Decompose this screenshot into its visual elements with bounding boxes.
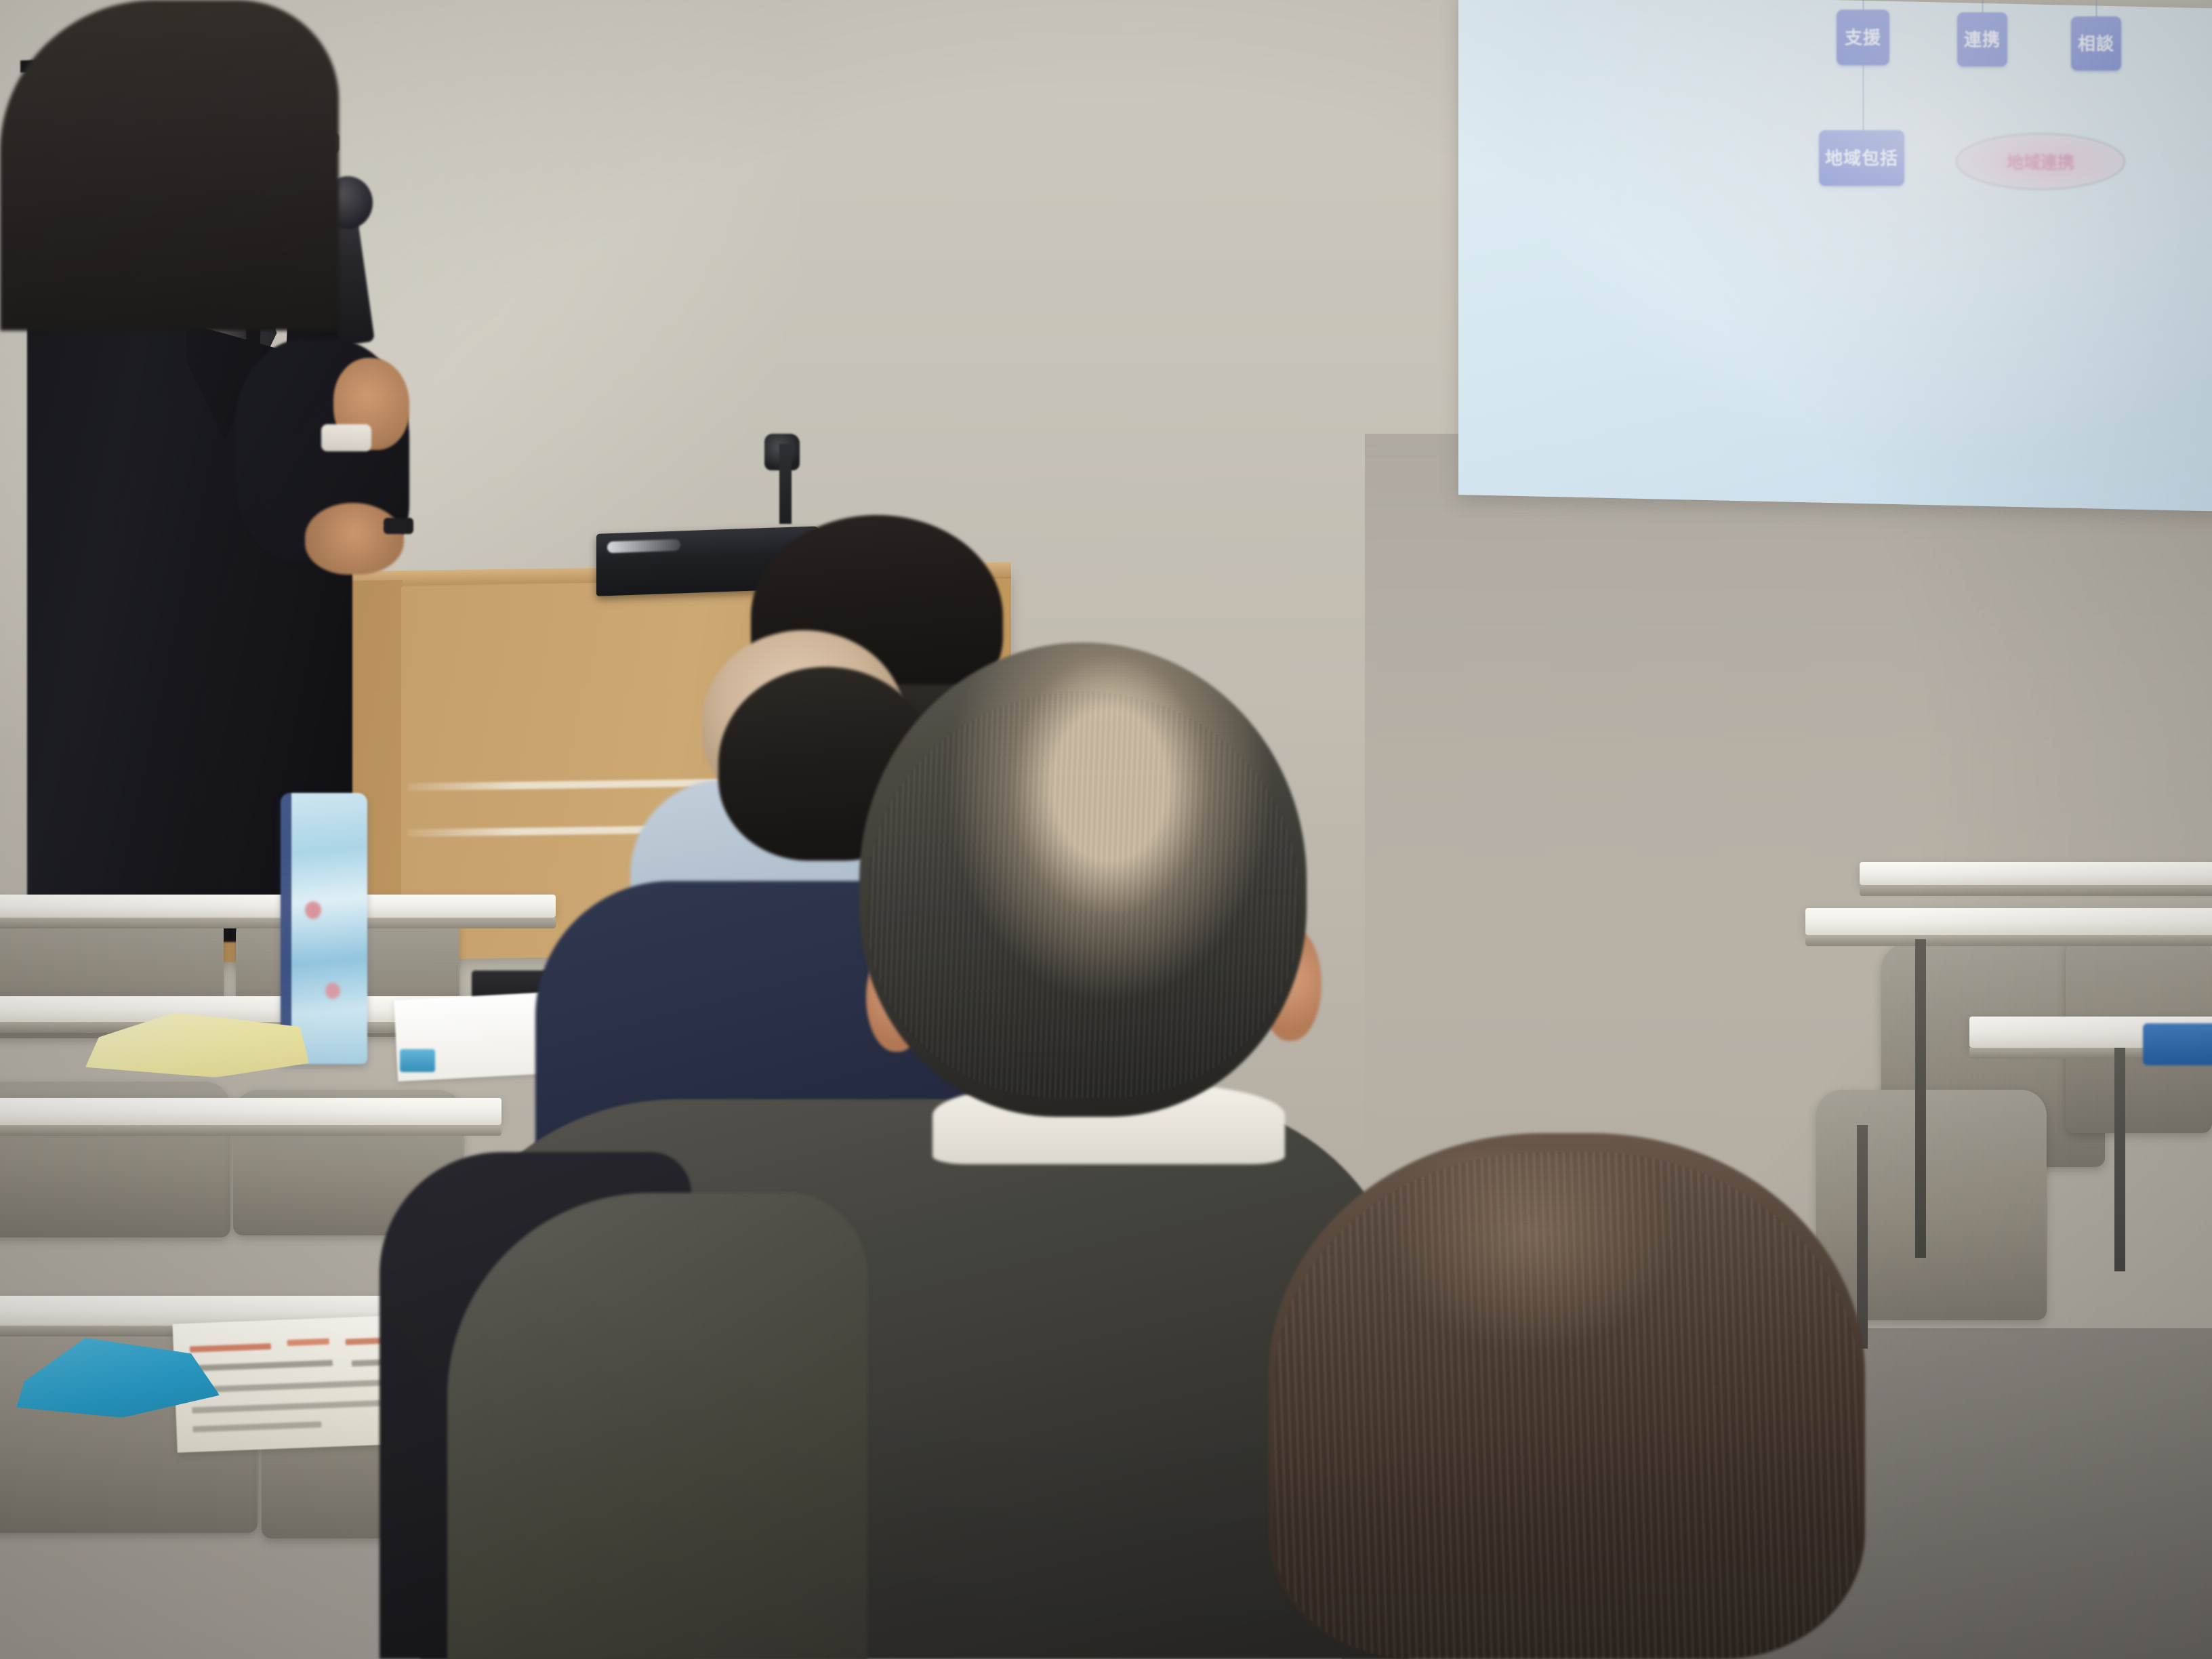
seminar-chair <box>1816 1090 2047 1320</box>
attendee-foreground-shoulder <box>447 1193 867 1659</box>
laptop-glare <box>607 539 680 553</box>
blue-eraser <box>400 1049 435 1072</box>
blue-folder-right-table <box>2143 1023 2212 1065</box>
table-leg <box>2114 1048 2125 1271</box>
seminar-table <box>1860 862 2212 885</box>
gooseneck-microphone-stand <box>779 444 792 524</box>
patterned-thermos-bottle <box>281 793 367 1064</box>
table-leg <box>1915 939 1926 1258</box>
presenter-shirt-cuff <box>321 424 371 451</box>
seminar-table-edge <box>0 918 556 928</box>
seminar-table-edge <box>1805 935 2212 946</box>
document-text-line <box>192 1421 321 1432</box>
presentation-clicker <box>384 518 413 534</box>
table-leg <box>1857 1125 1868 1349</box>
attendee-hair-highlight <box>1382 1152 1681 1355</box>
attendee-partial-right <box>0 0 339 331</box>
seminar-table <box>1805 908 2212 935</box>
seminar-table <box>0 1098 501 1125</box>
document-text-line <box>190 1343 271 1353</box>
thermos-pattern-dot <box>325 983 340 999</box>
photo-canvas: 支援連携相談地域包括地域連携 <box>0 0 2212 1659</box>
presenter-hand-holding-clicker <box>305 503 404 575</box>
seminar-table-edge <box>1860 885 2212 896</box>
attendee-foreground-hair-strands <box>867 691 1298 1098</box>
seminar-table <box>0 895 556 918</box>
document-text-line <box>192 1400 382 1414</box>
document-text-line <box>287 1338 329 1346</box>
screen-glare <box>1458 0 2212 512</box>
seminar-table-edge <box>0 1125 501 1136</box>
projection-screen: 支援連携相談地域包括地域連携 <box>1458 0 2212 512</box>
thermos-pattern-dot <box>305 901 321 919</box>
document-text-line <box>190 1360 333 1372</box>
